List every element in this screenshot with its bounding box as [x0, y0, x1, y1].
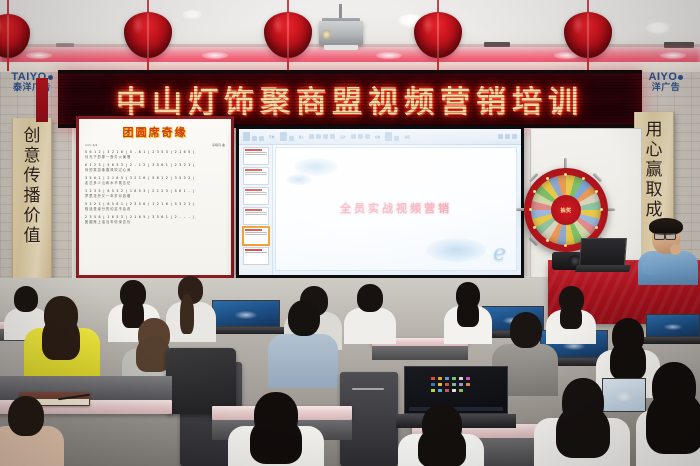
- laptop-keyboard[interactable]: [575, 265, 631, 272]
- wheel-bulb: [564, 244, 567, 247]
- ribbon-group[interactable]: [309, 134, 335, 139]
- paste-icon[interactable]: [243, 132, 250, 141]
- bullet-list-icon[interactable]: [365, 134, 370, 139]
- attendee: [24, 296, 100, 382]
- scroll-char: 取: [646, 180, 663, 200]
- underline-icon[interactable]: [323, 134, 328, 139]
- app-tile[interactable]: [459, 383, 463, 386]
- poster-meta: 1=C 4/4 演唱词 曲: [85, 143, 225, 147]
- logo-dot-icon: [678, 75, 683, 80]
- ribbon-tab-label[interactable]: 设计: [340, 135, 346, 139]
- attendee-head: [357, 284, 383, 312]
- logo-mark: AIYO: [638, 72, 694, 83]
- logo-mark: TAIYO: [4, 72, 60, 83]
- app-tile[interactable]: [452, 389, 456, 392]
- thumb-text-line: [245, 194, 267, 195]
- paper-lantern: [0, 14, 30, 58]
- attendee-torso: [268, 334, 338, 388]
- thumb-text-line: [245, 152, 267, 153]
- slide-thumbnail-selected[interactable]: [243, 227, 269, 245]
- glasses-icon: [665, 233, 676, 240]
- wheel-bulb: [595, 226, 598, 229]
- ribbon-group[interactable]: [280, 132, 294, 141]
- ceiling-downlight: [182, 10, 202, 19]
- scroll-char: 传: [24, 166, 41, 186]
- attendee-head: [510, 312, 542, 348]
- cut-icon[interactable]: [252, 136, 257, 141]
- wheel-bulb: [595, 190, 598, 193]
- ribbon-tab-label[interactable]: 插入: [299, 135, 305, 139]
- wheel-bulb: [546, 177, 549, 180]
- app-tile[interactable]: [431, 383, 435, 386]
- lantern-tail: [147, 57, 149, 71]
- scroll-char: 价: [24, 206, 41, 226]
- projected-desktop: 开始 插入 设计 切换 动画: [239, 129, 521, 275]
- font-color-icon[interactable]: [330, 134, 335, 139]
- align-center-icon[interactable]: [358, 134, 363, 139]
- company-logo-right: AIYO 洋广告: [638, 72, 694, 106]
- italic-icon[interactable]: [316, 134, 321, 139]
- wheel-hub[interactable]: 抽奖: [551, 195, 581, 225]
- lyric-row: 月 光 下 的 那 一 夜 灯 火 阑 珊: [85, 155, 225, 159]
- lyric-row: 梦 里 花 开 又 一 年 岁 月 如 烟: [85, 194, 225, 198]
- cove-downlight: [202, 52, 228, 59]
- scroll-char: 心: [646, 140, 663, 160]
- wheel-bulb: [582, 177, 585, 180]
- attendee: [228, 392, 324, 466]
- company-logo-left: TAIYO 泰洋广告: [4, 72, 60, 106]
- ceiling-downlight: [646, 22, 670, 34]
- app-tile[interactable]: [452, 377, 456, 380]
- cove-downlight: [376, 52, 402, 59]
- lantern-body: [414, 12, 462, 58]
- ribbon-tab-label[interactable]: 开始: [269, 135, 275, 139]
- attendee-hair: [250, 416, 302, 464]
- desk-front-panel: [372, 346, 468, 360]
- wheel-bulb: [600, 208, 603, 211]
- powerpoint-ribbon[interactable]: 开始 插入 设计 切换 动画: [239, 129, 521, 145]
- lantern-body: [124, 12, 172, 58]
- app-tile[interactable]: [452, 383, 456, 386]
- cove-downlight: [660, 52, 686, 59]
- poster-key-signature: 1=C 4/4: [85, 143, 97, 147]
- wheel-bulb: [564, 173, 567, 176]
- attendee: [398, 404, 484, 466]
- led-banner-text: 中山灯饰聚商盟视频营销培训: [116, 77, 584, 121]
- slide-thumbnail[interactable]: [243, 207, 269, 225]
- thumb-title-bar: [245, 229, 263, 231]
- attendee: [0, 396, 64, 466]
- glasses-icon: [654, 233, 665, 240]
- thumb-text-line: [245, 192, 267, 193]
- replace-icon[interactable]: [505, 134, 510, 139]
- poster-notation: 5 6 1 2 | 3 2 1 6 | 5 - 6 1 | 2 3 5 3 | …: [85, 149, 225, 225]
- paper-lantern: [124, 12, 172, 58]
- logo-chinese-name: 泰洋广告: [4, 84, 60, 93]
- ribbon-tab-label[interactable]: 动画: [404, 135, 410, 139]
- attendee-torso: [344, 308, 396, 344]
- attendee: [444, 282, 492, 344]
- chair-backrest-slot: [352, 388, 384, 390]
- projection-screen: 开始 插入 设计 切换 动画: [236, 126, 524, 278]
- scroll-char: 播: [24, 186, 41, 206]
- thumb-text-line: [245, 154, 267, 155]
- thumb-title-bar: [245, 249, 263, 251]
- lantern-body: [264, 12, 312, 58]
- app-tile[interactable]: [438, 383, 442, 386]
- lantern-body: [564, 12, 612, 58]
- slide-thumbnail[interactable]: [243, 247, 269, 265]
- logo-text: AIY: [649, 71, 669, 83]
- projector-base: [324, 45, 358, 50]
- wheel-stand: [36, 78, 48, 122]
- sheet-music-poster: 团圆席奇缘 1=C 4/4 演唱词 曲 5 6 1 2 | 3 2 1 6 | …: [76, 116, 234, 278]
- lyric-row: 团 圆 席 上 话 当 年 情 深 意 长: [85, 220, 225, 224]
- lantern-tail: [587, 57, 589, 71]
- arrange-icon[interactable]: [394, 136, 399, 141]
- attendee-hair: [560, 303, 582, 329]
- internet-e-logo-icon: e: [493, 241, 506, 266]
- app-tile[interactable]: [438, 389, 442, 392]
- app-tile[interactable]: [466, 383, 470, 386]
- ribbon-tab-label[interactable]: 切换: [375, 135, 381, 139]
- ribbon-group[interactable]: [243, 132, 264, 141]
- wheel-bulb: [533, 226, 536, 229]
- attendee-head: [288, 300, 320, 336]
- lyric-row: 你 的 笑 容 像 春 风 吹 过 心 间: [85, 168, 225, 172]
- layout-icon[interactable]: [289, 136, 294, 141]
- bold-icon[interactable]: [309, 134, 314, 139]
- app-tile[interactable]: [431, 377, 435, 380]
- attendee: [636, 362, 700, 466]
- app-tile[interactable]: [431, 389, 435, 392]
- ribbon-group[interactable]: [351, 134, 370, 139]
- attendee-hair: [136, 336, 170, 372]
- thumb-title-bar: [245, 189, 263, 191]
- paper-lantern: [414, 12, 462, 58]
- backpack: [166, 348, 236, 414]
- find-icon[interactable]: [498, 134, 503, 139]
- attendee: [268, 300, 338, 388]
- ribbon-group[interactable]: [385, 132, 399, 141]
- app-tile[interactable]: [459, 389, 463, 392]
- scroll-char: 用: [646, 120, 663, 140]
- thumb-title-bar: [245, 149, 263, 151]
- attendee-hair: [418, 426, 466, 466]
- thumb-title-bar: [245, 169, 263, 171]
- align-left-icon[interactable]: [351, 134, 356, 139]
- wheel-bulb: [546, 239, 549, 242]
- lantern-tail: [287, 57, 289, 71]
- slide-thumbnail[interactable]: [243, 167, 269, 185]
- presenter-laptop[interactable]: [576, 238, 630, 274]
- thumb-text-line: [245, 252, 267, 253]
- lyric-row: 走 过 多 少 山 和 水 不 曾 忘 记: [85, 181, 225, 185]
- logo-text-tail: O: [668, 71, 677, 83]
- attendee-head: [8, 396, 44, 436]
- paper-lantern: [264, 12, 312, 58]
- lyric-row: 相 逢 是 缘 分 的 约 定 不 会 改: [85, 207, 225, 211]
- logo-chinese-name: 洋广告: [638, 84, 694, 93]
- app-tile[interactable]: [445, 383, 449, 386]
- attendee-hair: [556, 404, 610, 458]
- scroll-char: 赢: [646, 160, 663, 180]
- desktop-wallpaper: [235, 311, 257, 318]
- app-tile[interactable]: [445, 377, 449, 380]
- wheel-bulb: [533, 190, 536, 193]
- slide-title: 全员实战视频营销: [276, 200, 516, 216]
- wheel-hub-label: 抽奖: [560, 207, 571, 214]
- attendee: [534, 378, 630, 466]
- slide-thumbnail[interactable]: [243, 147, 269, 165]
- thumb-text-line: [245, 234, 267, 235]
- lantern-tail: [7, 57, 9, 71]
- decorative-cloud: [286, 174, 312, 185]
- slide-thumbnail-panel[interactable]: [239, 145, 273, 275]
- attendee-hair: [457, 299, 479, 327]
- wheel-bulb: [529, 208, 532, 211]
- select-icon[interactable]: [512, 134, 517, 139]
- thumb-text-line: [245, 174, 267, 175]
- scroll-char: 创: [24, 126, 41, 146]
- thumb-text-line: [245, 212, 267, 213]
- app-tile[interactable]: [438, 377, 442, 380]
- training-room-photo: TAIYO 泰洋广告 AIYO 洋广告 中山灯饰聚商盟视频营销培训 创 意 传 …: [0, 0, 700, 466]
- ribbon-group[interactable]: [498, 134, 517, 139]
- paper-lantern: [564, 12, 612, 58]
- poster-title: 团圆席奇缘: [85, 124, 225, 140]
- app-tile[interactable]: [445, 389, 449, 392]
- lantern-tail: [437, 57, 439, 71]
- scroll-char: 值: [24, 226, 41, 246]
- attendee-hair: [646, 390, 700, 454]
- scroll-char: 意: [24, 146, 41, 166]
- slide-thumbnail[interactable]: [243, 187, 269, 205]
- logo-text: TAIY: [11, 71, 37, 83]
- new-slide-icon[interactable]: [280, 132, 287, 141]
- thumb-text-line: [245, 214, 267, 215]
- desktop-wallpaper: [664, 324, 682, 330]
- thumb-title-bar: [245, 209, 263, 211]
- presenter-hand: [670, 244, 681, 255]
- lantern-body: [0, 14, 30, 58]
- copy-icon[interactable]: [259, 136, 264, 141]
- shapes-icon[interactable]: [385, 132, 392, 141]
- laptop-screen[interactable]: [579, 238, 627, 266]
- thumb-text-line: [245, 172, 267, 173]
- projector-lens-icon: [322, 30, 331, 39]
- app-tile[interactable]: [459, 377, 463, 380]
- poster-credits: 演唱词 曲: [212, 143, 225, 147]
- calligraphy-scroll-left: 创 意 传 播 价 值: [12, 118, 52, 278]
- active-slide[interactable]: 全员实战视频营销 e: [275, 147, 517, 271]
- attendee-hair: [42, 316, 80, 360]
- attendee: [344, 284, 396, 344]
- decorative-cloud: [426, 238, 486, 262]
- logo-dot-icon: [48, 75, 53, 80]
- presenter: [636, 218, 700, 280]
- thumb-text-line: [245, 232, 267, 233]
- app-tile[interactable]: [466, 377, 470, 380]
